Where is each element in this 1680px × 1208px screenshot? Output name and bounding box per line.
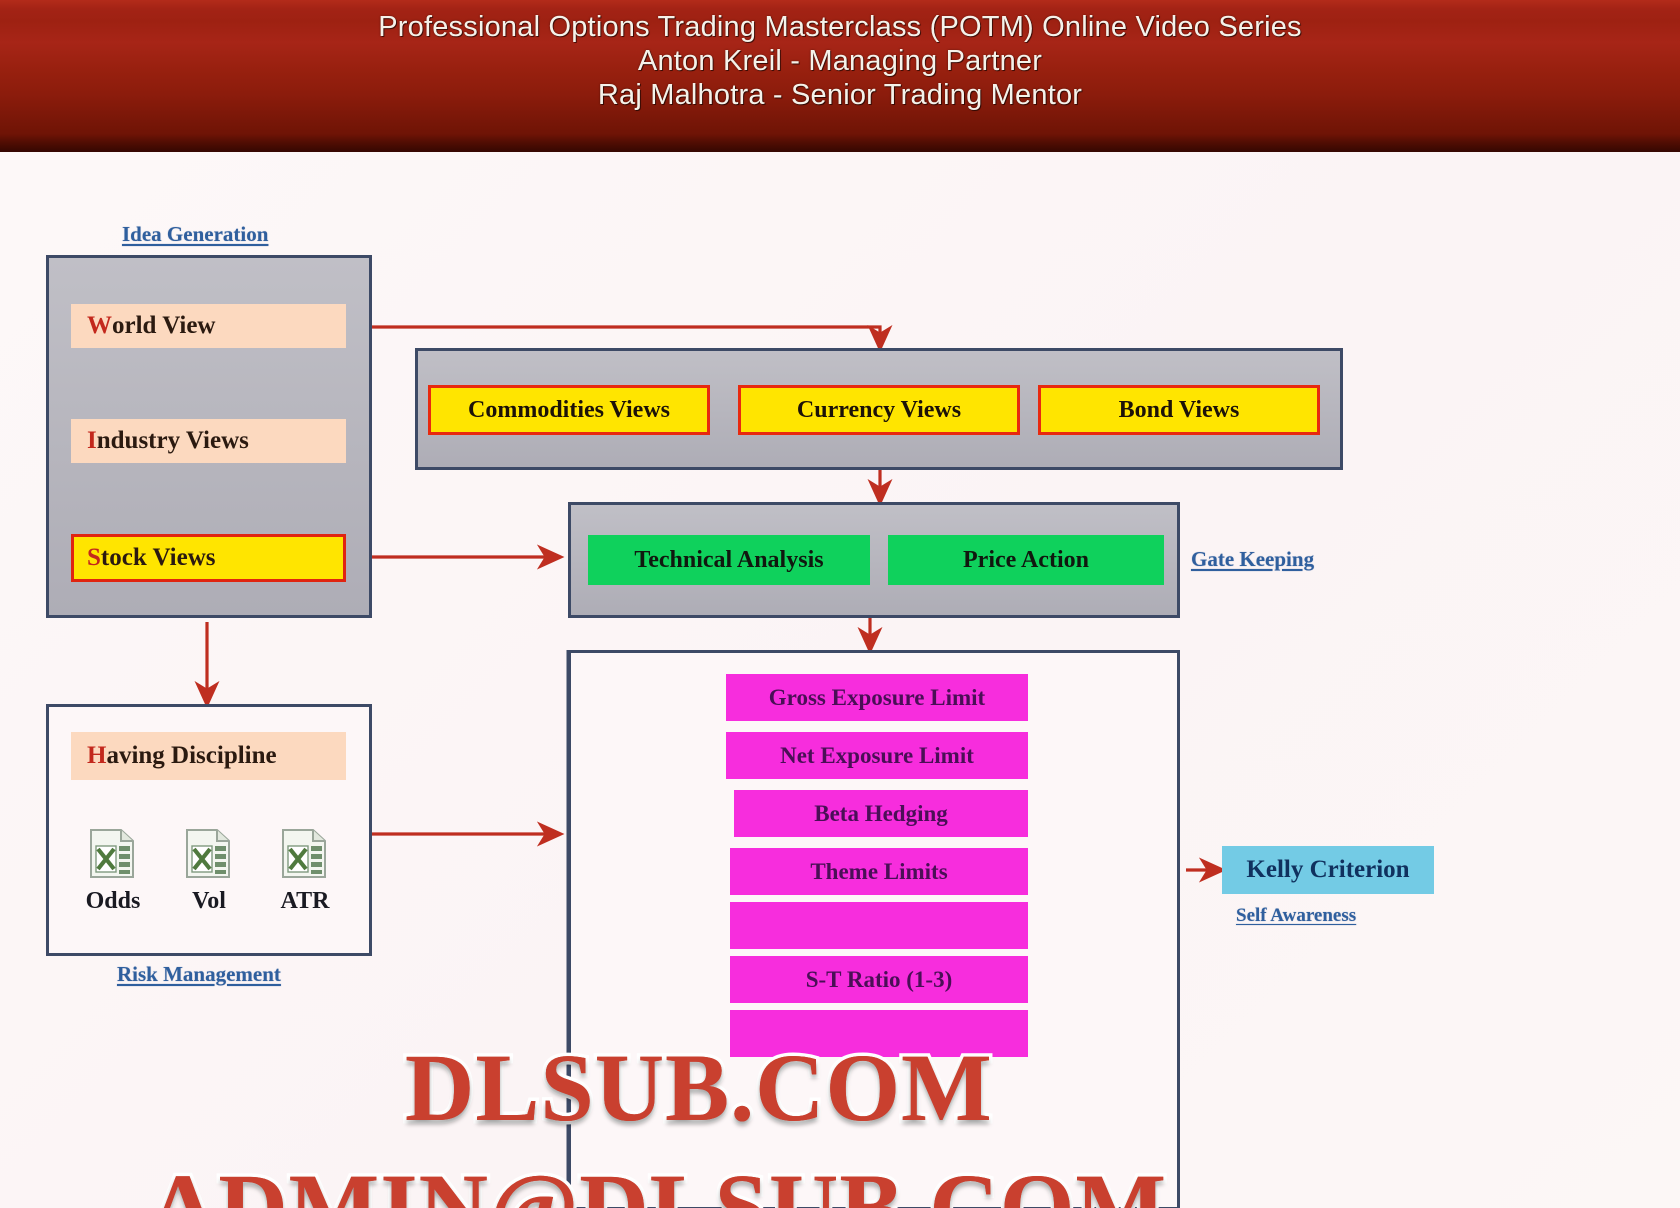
discipline-tool-odds-label: Odds bbox=[86, 888, 141, 915]
discipline-tool-atr[interactable]: ATR bbox=[276, 824, 334, 915]
risk-limit-beta-hedging-label: Beta Hedging bbox=[814, 801, 948, 827]
caption-gate-keeping: Gate Keeping bbox=[1191, 547, 1314, 572]
excel-icon bbox=[276, 824, 334, 882]
risk-limit-theme-limits[interactable]: Theme Limits bbox=[730, 848, 1028, 895]
risk-limit-occluded-1[interactable] bbox=[730, 902, 1028, 949]
caption-idea-generation: Idea Generation bbox=[122, 222, 268, 247]
self-awareness-kelly-criterion[interactable]: Kelly Criterion bbox=[1222, 846, 1434, 894]
watermark-email-fill: ADMIN@DLSUB.COM bbox=[148, 1152, 1167, 1208]
discipline-title-label: aving Discipline bbox=[106, 742, 276, 770]
discipline-tool-vol[interactable]: Vol bbox=[180, 824, 238, 915]
risk-limit-theme-limits-label: Theme Limits bbox=[810, 859, 947, 885]
process-diagram: Idea Generation World View Industry View… bbox=[0, 152, 1680, 1208]
discipline-title[interactable]: Having Discipline bbox=[71, 732, 346, 780]
discipline-title-initial: H bbox=[87, 742, 106, 770]
excel-icon bbox=[180, 824, 238, 882]
risk-limit-gross-exposure-label: Gross Exposure Limit bbox=[769, 685, 985, 711]
instructor-primary: Anton Kreil - Managing Partner bbox=[0, 44, 1680, 78]
idea-item-stock-views-initial: S bbox=[87, 544, 101, 572]
idea-item-industry-views-initial: I bbox=[87, 427, 97, 455]
idea-item-world-view-label: orld View bbox=[112, 312, 215, 340]
excel-icon bbox=[84, 824, 142, 882]
discipline-tools: Odds bbox=[84, 824, 334, 915]
market-view-currency-label: Currency Views bbox=[797, 397, 961, 424]
idea-item-world-view-initial: W bbox=[87, 312, 112, 340]
gatekeeping-technical-analysis-label: Technical Analysis bbox=[634, 547, 823, 574]
discipline-tool-atr-label: ATR bbox=[281, 888, 330, 915]
idea-item-world-view[interactable]: World View bbox=[71, 304, 346, 348]
risk-limit-st-ratio-label: S-T Ratio (1-3) bbox=[806, 967, 953, 993]
idea-item-industry-views[interactable]: Industry Views bbox=[71, 419, 346, 463]
risk-limit-net-exposure[interactable]: Net Exposure Limit bbox=[726, 732, 1028, 779]
course-title: Professional Options Trading Masterclass… bbox=[0, 10, 1680, 44]
market-view-commodities-label: Commodities Views bbox=[468, 397, 670, 424]
gatekeeping-price-action-label: Price Action bbox=[963, 547, 1089, 574]
caption-self-awareness: Self Awareness bbox=[1236, 905, 1356, 927]
gatekeeping-price-action[interactable]: Price Action bbox=[888, 535, 1164, 585]
risk-limit-net-exposure-label: Net Exposure Limit bbox=[780, 743, 974, 769]
discipline-tool-vol-label: Vol bbox=[192, 888, 226, 915]
watermark-domain-fill: DLSUB.COM bbox=[405, 1032, 993, 1143]
idea-item-stock-views[interactable]: Stock Views bbox=[71, 534, 346, 582]
discipline-tool-odds[interactable]: Odds bbox=[84, 824, 142, 915]
instructor-secondary: Raj Malhotra - Senior Trading Mentor bbox=[0, 78, 1680, 112]
gatekeeping-technical-analysis[interactable]: Technical Analysis bbox=[588, 535, 870, 585]
market-view-currency[interactable]: Currency Views bbox=[738, 385, 1020, 435]
market-view-commodities[interactable]: Commodities Views bbox=[428, 385, 710, 435]
idea-item-stock-views-label: tock Views bbox=[101, 544, 216, 572]
market-view-bond-label: Bond Views bbox=[1119, 397, 1240, 424]
course-header-banner: Professional Options Trading Masterclass… bbox=[0, 0, 1680, 152]
caption-risk-management: Risk Management bbox=[117, 962, 281, 987]
risk-limit-st-ratio[interactable]: S-T Ratio (1-3) bbox=[730, 956, 1028, 1003]
risk-limit-gross-exposure[interactable]: Gross Exposure Limit bbox=[726, 674, 1028, 721]
screenshot-root: Professional Options Trading Masterclass… bbox=[0, 0, 1680, 1208]
risk-limit-beta-hedging[interactable]: Beta Hedging bbox=[734, 790, 1028, 837]
self-awareness-kelly-criterion-label: Kelly Criterion bbox=[1246, 856, 1409, 884]
market-view-bond[interactable]: Bond Views bbox=[1038, 385, 1320, 435]
idea-item-industry-views-label: ndustry Views bbox=[97, 427, 249, 455]
